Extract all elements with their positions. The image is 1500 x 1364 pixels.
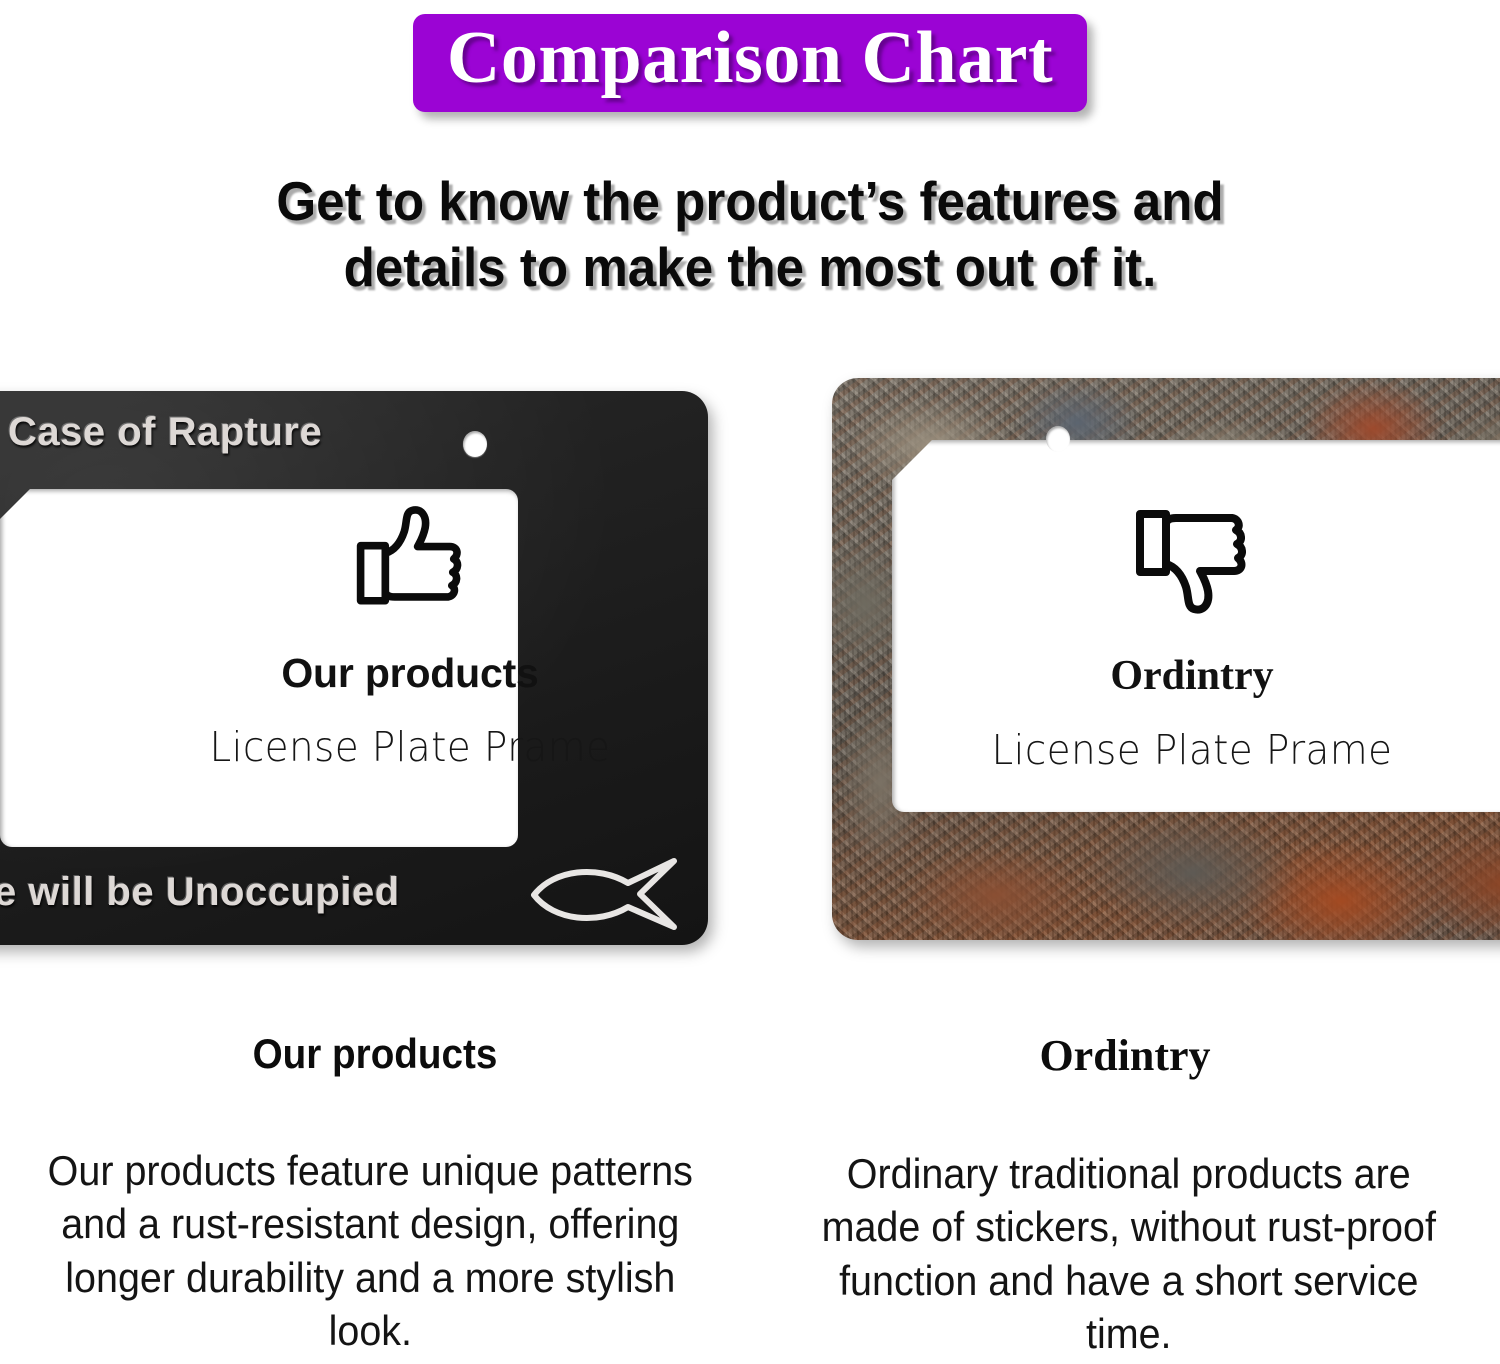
ordinary-product-column: Ordintry Ordinary traditional products a… bbox=[750, 1030, 1500, 1364]
ordinary-product-plate-title: Ordintry bbox=[1110, 652, 1273, 700]
our-product-plate-title: Our products bbox=[281, 650, 538, 697]
mounting-hole-icon-right bbox=[1046, 426, 1070, 452]
thumbs-up-icon bbox=[353, 500, 467, 616]
our-product-column-heading: Our products bbox=[30, 1030, 720, 1078]
comparison-columns: Our products Our products feature unique… bbox=[0, 1030, 1500, 1364]
our-product-column-body: Our products feature unique patterns and… bbox=[23, 1144, 728, 1357]
frame-bottom-band-text: e will be Unoccupied bbox=[0, 870, 400, 915]
ichthys-fish-icon bbox=[528, 857, 680, 931]
product-frames-row: Case of Rapture e will be Unoccupied Our… bbox=[0, 0, 1500, 1000]
our-product-column: Our products Our products feature unique… bbox=[0, 1030, 750, 1364]
our-product-plate-subtitle: License Plate Prame bbox=[210, 723, 611, 771]
ordinary-product-column-heading: Ordintry bbox=[750, 1030, 1500, 1081]
ordinary-product-plate-content: Ordintry License Plate Prame bbox=[892, 498, 1492, 774]
thumbs-down-icon bbox=[1132, 498, 1252, 620]
frame-top-band-text: Case of Rapture bbox=[8, 410, 322, 455]
ordinary-product-plate-subtitle: License Plate Prame bbox=[992, 726, 1393, 774]
mounting-hole-icon bbox=[463, 431, 487, 457]
comparison-chart-page: Comparison Chart Get to know the product… bbox=[0, 0, 1500, 1364]
our-product-plate-content: Our products License Plate Prame bbox=[150, 500, 670, 771]
ordinary-product-column-body: Ordinary traditional products are made o… bbox=[773, 1147, 1478, 1360]
